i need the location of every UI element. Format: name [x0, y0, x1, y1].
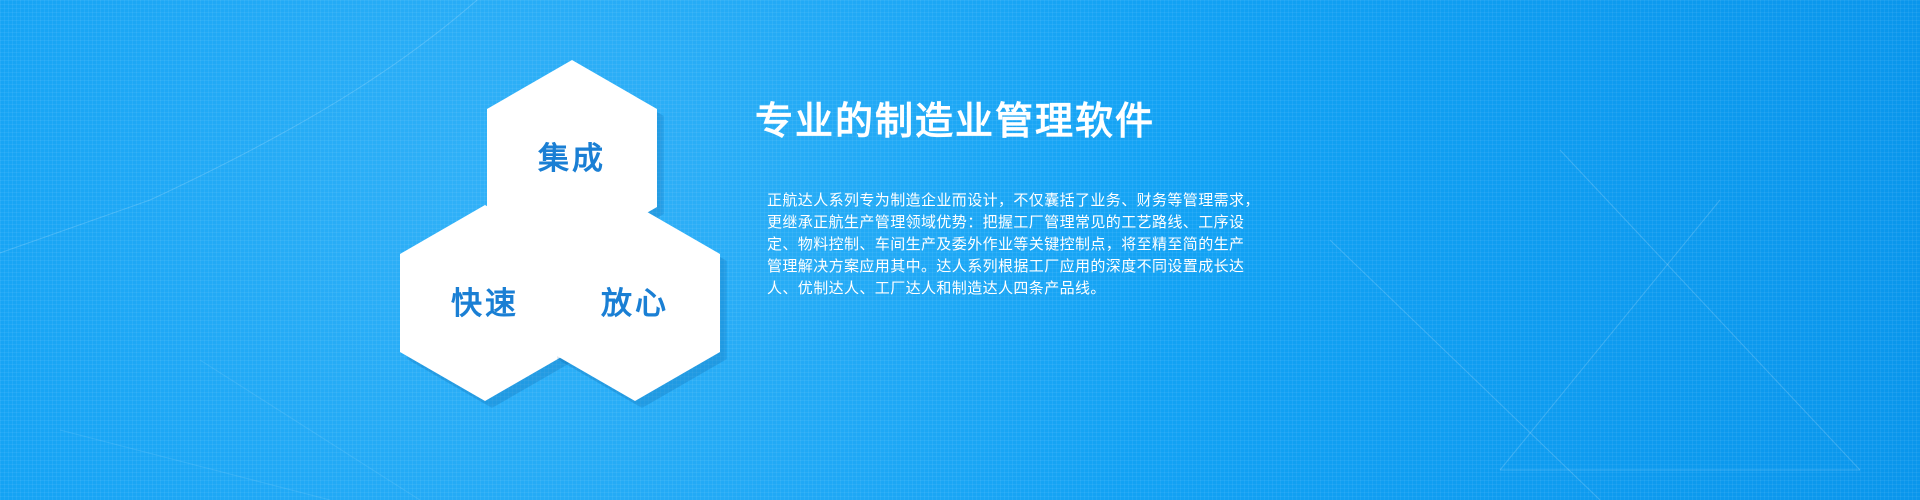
hexagon-label: 快速	[451, 288, 519, 319]
hexagon-fast[interactable]: 快速	[400, 205, 570, 401]
hexagon-cluster: 集成 快速 放心	[400, 60, 740, 340]
page-title: 专业的制造业管理软件	[755, 100, 1455, 146]
paragraph-line: 管理解决方案应用其中。达人系列根据工厂应用的深度不同设置成长达	[767, 256, 1197, 278]
paragraph-line: 定、物料控制、车间生产及委外作业等关键控制点，将至精至简的生产	[767, 234, 1197, 256]
hero-text-block: 专业的制造业管理软件 正航达人系列专为制造企业而设计，不仅囊括了业务、财务等管理…	[755, 100, 1455, 300]
hero-banner: 集成 快速 放心 专业的制造业管理软件 正航达人系列专为制造企业而设计，不仅囊括…	[0, 0, 1920, 500]
description-paragraph: 正航达人系列专为制造企业而设计，不仅囊括了业务、财务等管理需求， 更继承正航生产…	[767, 190, 1197, 300]
hexagon-reliable[interactable]: 放心	[550, 205, 720, 401]
hexagon-label: 放心	[601, 288, 669, 319]
paragraph-line: 更继承正航生产管理领域优势：把握工厂管理常见的工艺路线、工序设	[767, 212, 1197, 234]
hexagon-label: 集成	[538, 143, 606, 174]
paragraph-line: 人、优制达人、工厂达人和制造达人四条产品线。	[767, 278, 1197, 300]
paragraph-line: 正航达人系列专为制造企业而设计，不仅囊括了业务、财务等管理需求，	[767, 190, 1197, 212]
